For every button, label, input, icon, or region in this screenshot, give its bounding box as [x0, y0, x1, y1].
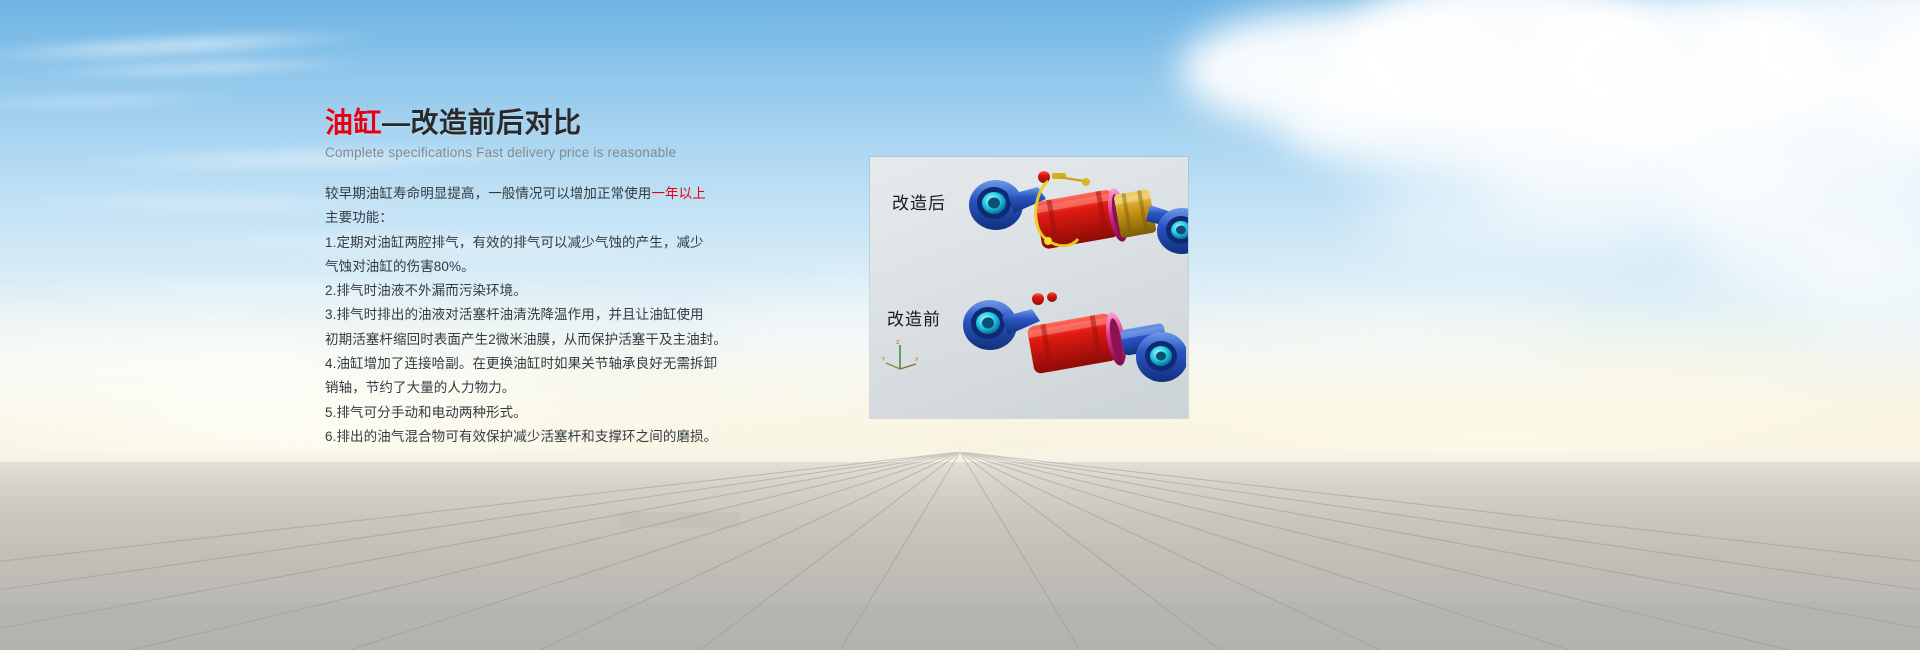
coordinate-axis-icon: Z X Y	[882, 339, 922, 373]
body-line-10: 5.排气可分手动和电动两种形式。	[325, 401, 845, 425]
body-line-2: 主要功能：	[325, 206, 845, 230]
body-line-9: 销轴，节约了大量的人力物力。	[325, 376, 845, 400]
body-line-1: 较早期油缸寿命明显提高，一般情况可以增加正常使用一年以上	[325, 182, 845, 206]
body-line-7: 初期活塞杆缩回时表面产生2微米油膜，从而保护活塞干及主油封。	[325, 328, 845, 352]
ground-plaza	[0, 452, 1920, 650]
ground-grid-lines	[0, 452, 1920, 650]
cylinder-before-render	[958, 285, 1186, 401]
body-line-1-text: 较早期油缸寿命明显提高，一般情况可以增加正常使用	[325, 186, 651, 201]
cylinder-after-render	[960, 165, 1188, 277]
product-comparison-panel: 改造后 改造前 Z X Y	[870, 157, 1188, 418]
body-line-3: 1.定期对油缸两腔排气，有效的排气可以减少气蚀的产生，减少	[325, 231, 845, 255]
svg-text:Z: Z	[896, 340, 900, 346]
title-red-part: 油缸	[325, 107, 382, 138]
body-line-11: 6.排出的油气混合物可有效保护减少活塞杆和支撑环之间的磨损。	[325, 425, 845, 449]
page-title: 油缸—改造前后对比	[325, 106, 845, 140]
body-line-6: 3.排气时排出的油液对活塞杆油清洗降温作用，并且让油缸使用	[325, 303, 845, 327]
page-subtitle: Complete specifications Fast delivery pr…	[325, 145, 845, 160]
body-line-1-highlight: 一年以上	[651, 186, 705, 201]
banner-stage: 油缸—改造前后对比 Complete specifications Fast d…	[0, 0, 1920, 650]
label-after-modification: 改造后	[892, 189, 946, 214]
svg-text:X: X	[915, 357, 919, 363]
banner-content: 油缸—改造前后对比 Complete specifications Fast d…	[325, 106, 845, 449]
title-dark-part: —改造前后对比	[382, 107, 582, 138]
feature-list: 较早期油缸寿命明显提高，一般情况可以增加正常使用一年以上 主要功能： 1.定期对…	[325, 182, 845, 449]
label-before-modification: 改造前	[887, 305, 941, 330]
body-line-8: 4.油缸增加了连接哈副。在更换油缸时如果关节轴承良好无需拆卸	[325, 352, 845, 376]
body-line-5: 2.排气时油液不外漏而污染环境。	[325, 279, 845, 303]
body-line-4: 气蚀对油缸的伤害80%。	[325, 255, 845, 279]
svg-text:Y: Y	[882, 357, 886, 363]
